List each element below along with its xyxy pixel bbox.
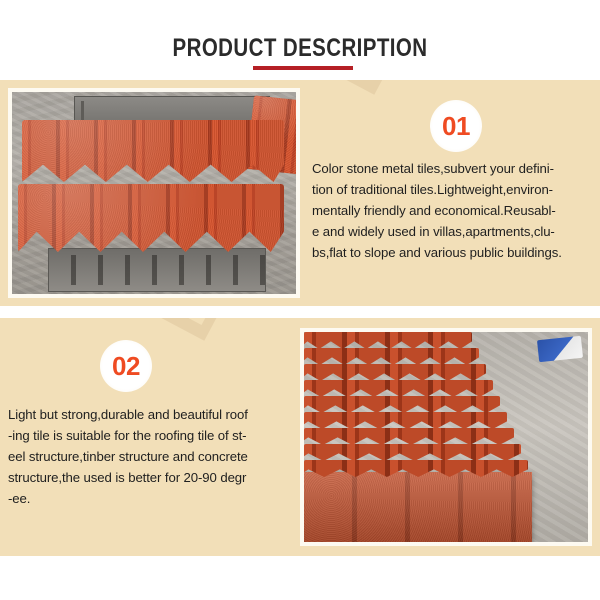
description-line: -ing tile is suitable for the roofing ti…: [8, 425, 294, 446]
photo-2-tile-row: [304, 364, 486, 381]
product-photo-1: [8, 88, 300, 298]
title-underline-rule: [253, 66, 353, 70]
photo-2-tile-row: [304, 412, 507, 429]
description-text-column-2: 02 Light but strong,durable and beautifu…: [0, 318, 300, 556]
description-line: Light but strong,durable and beautiful r…: [8, 404, 294, 425]
page-title: PRODUCT DESCRIPTION: [54, 34, 546, 63]
photo-2-tile-row: [304, 444, 521, 461]
page-header: PRODUCT DESCRIPTION: [0, 0, 600, 80]
photo-2-tile-row: [304, 380, 493, 397]
description-line: eel structure,tinber structure and concr…: [8, 446, 294, 467]
photo-1-rack-lower: [48, 248, 266, 292]
description-line: -ee.: [8, 488, 294, 509]
description-line: tion of traditional tiles.Lightweight,en…: [312, 179, 594, 200]
description-block-2: LONGSHENG 02 Light but strong,durable an…: [0, 318, 600, 556]
product-photo-2: [300, 328, 592, 546]
photo-2-tile-row: [304, 348, 479, 365]
step-badge-01: 01: [430, 100, 482, 152]
step-badge-02: 02: [100, 340, 152, 392]
description-line: e and widely used in villas,apartments,c…: [312, 221, 594, 242]
description-line: bs,flat to slope and various public buil…: [312, 242, 594, 263]
description-block-1: LONGSHENG 01 Color stone metal tiles,sub…: [0, 80, 600, 306]
photo-2-tile-row: [304, 396, 500, 413]
description-paragraph-2: Light but strong,durable and beautiful r…: [8, 404, 294, 509]
description-line: structure,the used is better for 20-90 d…: [8, 467, 294, 488]
photo-2-tile-row: [304, 332, 472, 349]
photo-2-background-object: [537, 336, 583, 362]
description-text-column-1: 01 Color stone metal tiles,subvert your …: [302, 80, 600, 306]
product-photo-2-image: [304, 332, 588, 542]
description-paragraph-1: Color stone metal tiles,subvert your def…: [312, 158, 594, 263]
photo-2-tile-front-face: [304, 472, 532, 542]
photo-2-tile-stack: [304, 332, 540, 482]
description-line: mentally friendly and economical.Reusabl…: [312, 200, 594, 221]
photo-2-tile-row: [304, 428, 514, 445]
description-line: Color stone metal tiles,subvert your def…: [312, 158, 594, 179]
product-photo-1-image: [12, 92, 296, 294]
